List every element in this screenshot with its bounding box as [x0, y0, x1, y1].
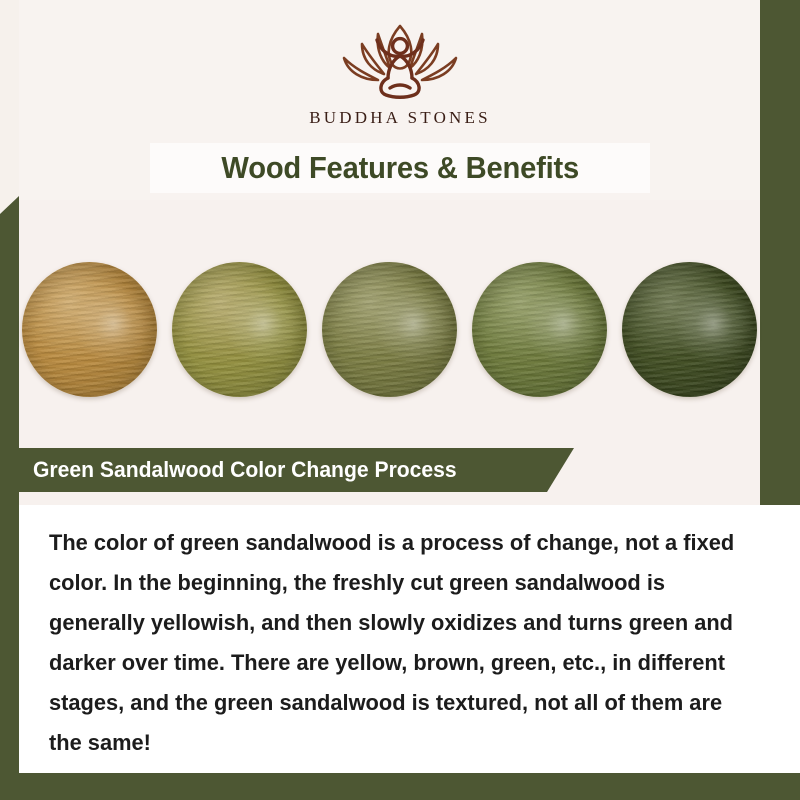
bead-highlight: [172, 262, 307, 397]
section-banner: Green Sandalwood Color Change Process: [19, 448, 574, 492]
bead-highlight: [22, 262, 157, 397]
wood-bead-stage-4: [472, 262, 607, 397]
wood-bead-stage-2: [172, 262, 307, 397]
page-title: Wood Features & Benefits: [221, 150, 579, 186]
wood-color-stage-row: [19, 253, 760, 405]
wood-bead-stage-1: [22, 262, 157, 397]
page-title-band: Wood Features & Benefits: [150, 143, 650, 193]
infographic-canvas: BUDDHA STONES Wood Features & Benefits T…: [0, 0, 800, 800]
bead-highlight: [472, 262, 607, 397]
brand-logo: BUDDHA STONES: [0, 20, 800, 140]
lotus-meditation-icon: [320, 20, 480, 104]
brand-name: BUDDHA STONES: [309, 108, 491, 128]
wood-bead-stage-5: [622, 262, 757, 397]
bead-highlight: [322, 262, 457, 397]
frame-bar-left: [0, 196, 19, 800]
wood-bead-stage-3: [322, 262, 457, 397]
description-card: The color of green sandalwood is a proce…: [19, 505, 800, 773]
section-banner-title: Green Sandalwood Color Change Process: [33, 457, 457, 483]
description-text: The color of green sandalwood is a proce…: [49, 523, 739, 763]
bead-highlight: [622, 262, 757, 397]
